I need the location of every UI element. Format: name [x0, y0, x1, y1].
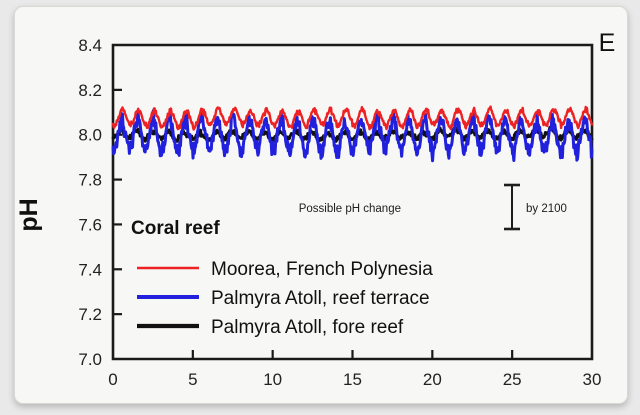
y-tick-label: 8.2	[78, 81, 102, 100]
y-tick-label: 7.4	[78, 260, 102, 279]
y-tick-label: 7.6	[78, 215, 102, 234]
x-tick-label: 25	[503, 370, 522, 389]
y-tick-label: 7.2	[78, 305, 102, 324]
y-tick-label: 7.0	[78, 350, 102, 369]
x-axis-tick-labels: 051015202530	[108, 370, 601, 389]
plot-frame	[113, 45, 592, 359]
ph-timeseries-chart: 7.07.27.47.67.88.08.28.4 051015202530 pH…	[15, 7, 627, 403]
legend-entry-label: Palmyra Atoll, reef terrace	[211, 288, 430, 309]
legend-entries: Moorea, French PolynesiaPalmyra Atoll, r…	[137, 259, 433, 338]
figure-card: 7.07.27.47.67.88.08.28.4 051015202530 pH…	[14, 6, 628, 404]
y-tick-label: 8.4	[78, 36, 102, 55]
annotation-text-left: Possible pH change	[299, 203, 401, 215]
legend-entry-label: Palmyra Atoll, fore reef	[211, 317, 404, 338]
x-tick-label: 15	[343, 370, 362, 389]
y-tick-label: 8.0	[78, 126, 102, 145]
x-tick-label: 5	[188, 370, 197, 389]
x-tick-label: 30	[583, 370, 602, 389]
data-traces	[113, 107, 592, 161]
legend: Coral reef Moorea, French PolynesiaPalmy…	[131, 218, 433, 338]
panel-letter: E	[599, 29, 616, 57]
annotation-text-right: by 2100	[526, 203, 567, 215]
x-tick-label: 0	[108, 370, 117, 389]
y-axis-label: pH	[15, 198, 43, 231]
ph-change-annotation: Possible pH change by 2100	[299, 185, 567, 229]
y-tick-label: 7.8	[78, 171, 102, 190]
x-tick-label: 20	[423, 370, 442, 389]
x-tick-label: 10	[263, 370, 282, 389]
y-axis-tick-labels: 7.07.27.47.67.88.08.28.4	[78, 36, 102, 369]
legend-entry-label: Moorea, French Polynesia	[211, 259, 433, 280]
errorbar-icon	[504, 185, 520, 229]
legend-title: Coral reef	[131, 218, 220, 239]
chart-svg: 7.07.27.47.67.88.08.28.4 051015202530 pH…	[15, 7, 627, 403]
